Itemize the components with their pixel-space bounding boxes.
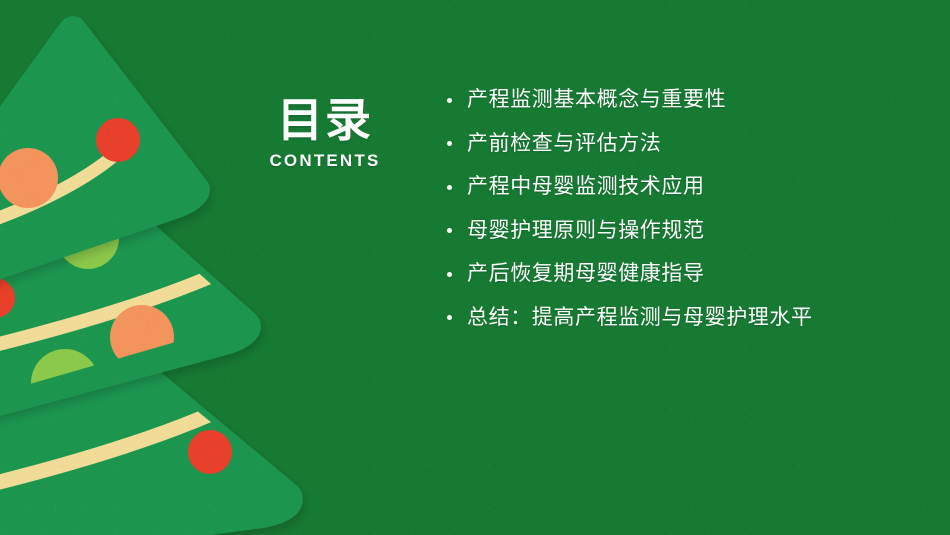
ornament-orange-upper [0,148,58,208]
list-item[interactable]: 产程监测基本概念与重要性 [445,78,940,122]
list-item[interactable]: 总结：提高产程监测与母婴护理水平 [445,296,940,340]
list-item[interactable]: 产程中母婴监测技术应用 [445,165,940,209]
list-item[interactable]: 母婴护理原则与操作规范 [445,209,940,253]
list-item[interactable]: 产后恢复期母婴健康指导 [445,252,940,296]
contents-block: 目录 CONTENTS 产程监测基本概念与重要性 产前检查与评估方法 产程中母婴… [250,78,940,378]
section-heading: 目录 CONTENTS [250,78,400,171]
ornament-red-top [96,118,140,162]
bullet-dot-icon [447,98,452,103]
list-item-label: 产程中母婴监测技术应用 [467,175,705,198]
list-item-label: 产后恢复期母婴健康指导 [467,262,705,285]
ornament-red-bottom [188,430,232,474]
bullet-dot-icon [447,228,452,233]
bullet-dot-icon [447,315,452,320]
table-of-contents-list: 产程监测基本概念与重要性 产前检查与评估方法 产程中母婴监测技术应用 母婴护理原… [400,78,940,339]
bullet-dot-icon [447,141,452,146]
bullet-dot-icon [447,272,452,277]
bullet-dot-icon [447,185,452,190]
page-title: 目录 [250,96,400,145]
list-item-label: 总结：提高产程监测与母婴护理水平 [467,306,813,329]
slide-canvas: 目录 CONTENTS 产程监测基本概念与重要性 产前检查与评估方法 产程中母婴… [0,0,950,535]
page-subtitle: CONTENTS [250,151,400,171]
list-item-label: 母婴护理原则与操作规范 [467,219,705,242]
list-item-label: 产程监测基本概念与重要性 [467,88,726,111]
list-item-label: 产前检查与评估方法 [467,132,661,155]
list-item[interactable]: 产前检查与评估方法 [445,122,940,166]
